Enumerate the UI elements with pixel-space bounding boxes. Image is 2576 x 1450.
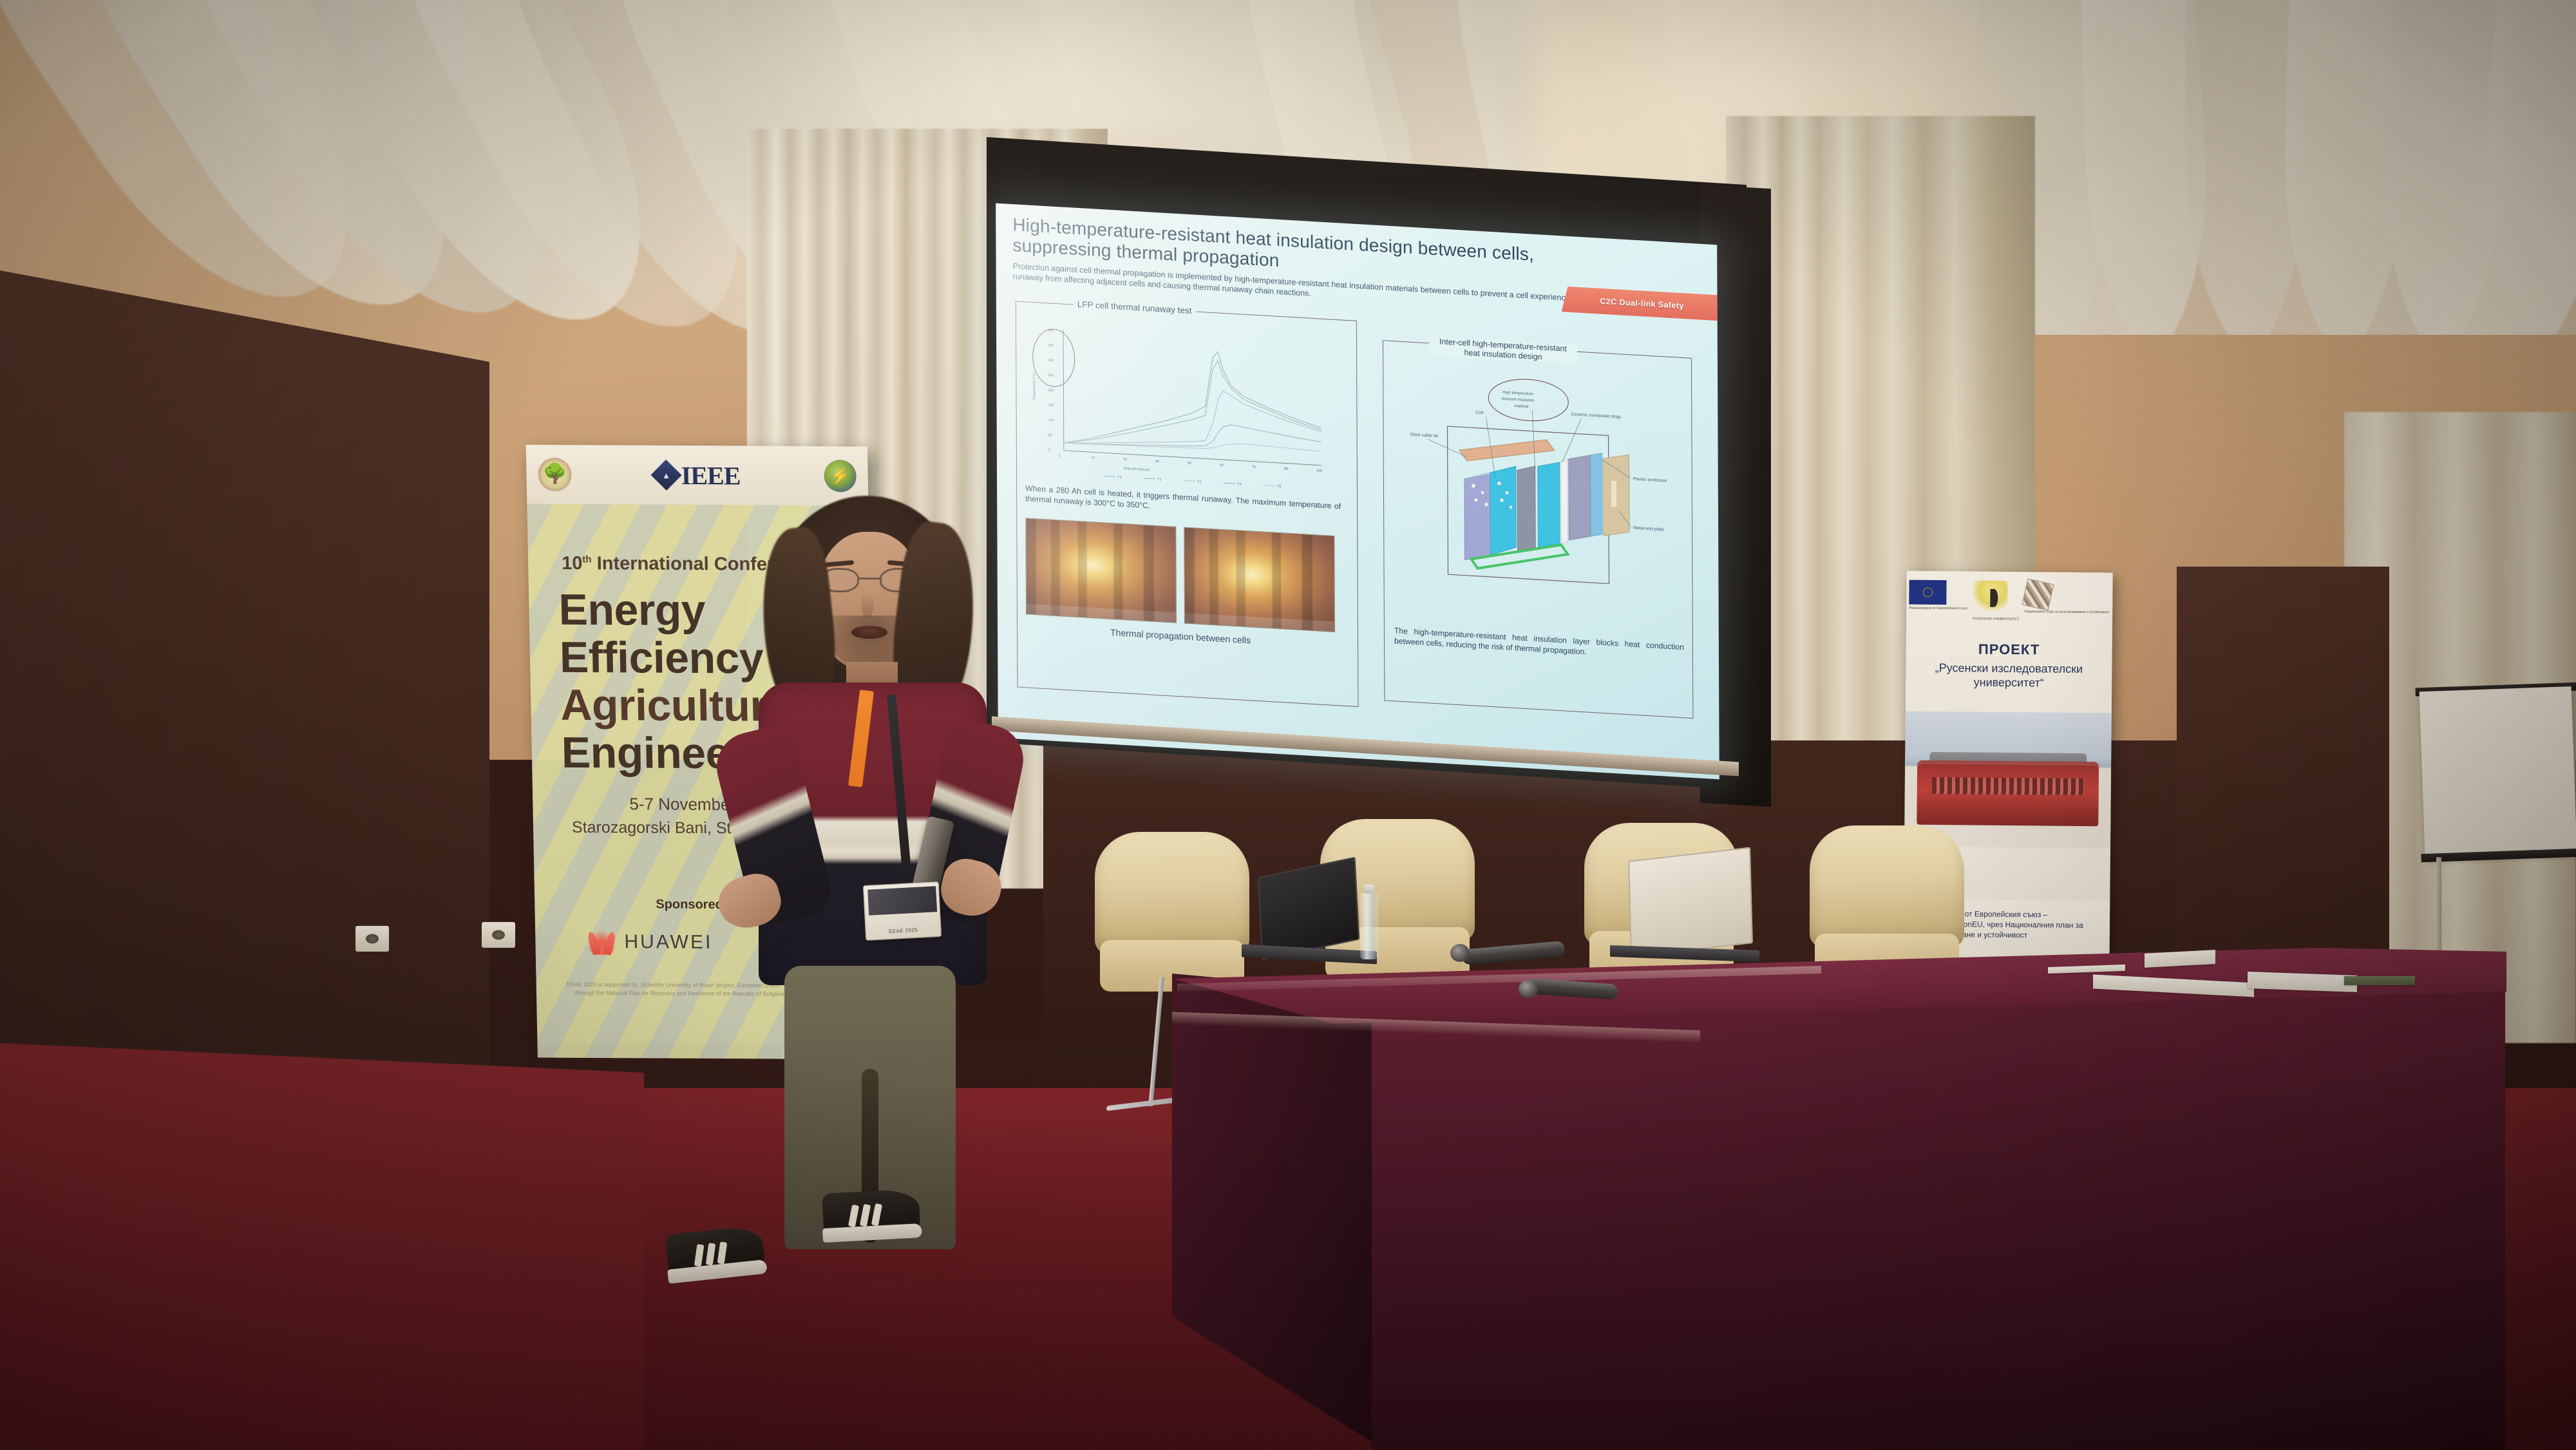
chart-xtick: 50	[1188, 462, 1191, 466]
diagram-label-insulation-2: resistant insulation	[1501, 397, 1535, 403]
shoe-stripe	[717, 1241, 728, 1264]
project-name: „Русенски изследователски университет“	[1912, 661, 2105, 692]
projection-screen: High-temperature-resistant heat insulati…	[996, 203, 1719, 780]
thermal-runaway-chart: 050100150200250300350400 013253850637588…	[1026, 322, 1329, 494]
laptop-base	[1242, 944, 1377, 964]
microphone-2-head	[1519, 980, 1538, 998]
nrp-logo-caption: Национален план за възстановяване и усто…	[2025, 610, 2110, 614]
conference-photo: High-temperature-resistant heat insulati…	[0, 0, 2576, 1450]
building-facade	[1917, 760, 2098, 826]
diagram-label-insulation-3: material	[1514, 404, 1528, 409]
chart-ylabel: Temperature (°C)	[1032, 373, 1036, 400]
slide-ribbon-badge: C2C Dual-link Safety	[1562, 286, 1719, 321]
chair	[1810, 825, 1964, 974]
water-bottle	[1360, 892, 1378, 959]
shoe-stripe	[706, 1243, 716, 1265]
presentation-slide: High-temperature-resistant heat insulati…	[996, 203, 1719, 780]
chart-xtick: 63	[1220, 464, 1224, 467]
ceiling-light-glow-secondary	[676, 0, 1385, 142]
diagram-label-cell: Cell	[1475, 411, 1484, 416]
ieee-label: IEEE	[681, 460, 741, 490]
ieee-logo: ▲ IEEE	[655, 460, 741, 491]
eu-logo-caption: Финансирано от Европейския съюз	[1909, 607, 1967, 611]
diagram-label-enclosure: Plastic enclosure	[1633, 477, 1667, 484]
diagram-label-insulation-1: High temperature	[1502, 390, 1533, 397]
chart-xtick: 88	[1284, 467, 1288, 471]
laptop-screen	[1258, 857, 1360, 961]
banner-ordinal: 10	[562, 553, 583, 574]
chart-series-T4	[1064, 415, 1321, 458]
university-crest-icon	[1973, 581, 2007, 616]
badge-photo-area	[867, 886, 937, 915]
shoe-stripe	[860, 1204, 871, 1227]
speaker: EEAE 2025	[702, 489, 1037, 1346]
fire-photo-1	[1025, 518, 1177, 623]
shoe-stripe	[694, 1244, 705, 1266]
project-label: ПРОЕКТ	[1906, 641, 2112, 659]
chart-legend-T3: T3	[1197, 480, 1201, 484]
huawei-logo: HUAWEI	[587, 929, 713, 956]
chair-backrest	[1810, 825, 1964, 948]
chart-xtick: 38	[1155, 460, 1159, 464]
laptop-right	[1610, 854, 1758, 963]
glasses-bridge	[859, 578, 880, 579]
banner-title-line-1: Energy	[558, 588, 706, 632]
laptop-left	[1242, 867, 1377, 963]
desk-object	[2344, 976, 2415, 985]
chart-ytick: 100	[1048, 419, 1054, 423]
mouth	[851, 626, 887, 639]
badge-text: EEAE 2025	[866, 926, 940, 936]
power-outlet	[482, 922, 515, 948]
power-outlet	[355, 926, 389, 952]
battery-insulation-diagram: Steel cable tie Cell High temperature re…	[1408, 362, 1667, 628]
chart-xtick: 25	[1123, 458, 1127, 462]
shoe-stripe	[871, 1203, 882, 1226]
chart-legend-T5: T5	[1277, 485, 1281, 489]
eu-logo-block: Финансирано от Европейския съюз	[1909, 580, 1967, 611]
shoe-right	[822, 1189, 921, 1241]
chart-series-T2	[1063, 352, 1321, 458]
shoe-stripe	[848, 1205, 859, 1227]
ieee-diamond-icon: ▲	[651, 460, 682, 491]
diagram-label-cable-tie: Steel cable tie	[1410, 433, 1439, 439]
eu-flag-icon	[1909, 580, 1947, 605]
huawei-flower-icon	[587, 929, 617, 955]
chart-legend-T4: T4	[1237, 482, 1241, 486]
chart-ytick: 0	[1048, 448, 1050, 452]
chart-xtick: 100	[1316, 469, 1322, 473]
energy-leaf-icon: ⚡	[824, 460, 857, 492]
flipchart-sheet	[2420, 686, 2576, 859]
chair	[1095, 832, 1249, 980]
ruse-university-logo-block: РУСЕНСКИ УНИВЕРСИТЕТ	[1973, 581, 2020, 622]
microphone-1-head	[1450, 944, 1470, 962]
conference-badge: EEAE 2025	[863, 881, 942, 941]
tree-icon: 🌳	[538, 458, 572, 491]
nrp-mosaic-icon	[2022, 578, 2054, 610]
project-banner-logos: Финансирано от Европейския съюз РУСЕНСКИ…	[1906, 580, 2113, 637]
chart-xtick: 75	[1252, 466, 1256, 469]
huawei-label: HUAWEI	[624, 931, 713, 954]
chart-legend-T2: T2	[1157, 478, 1161, 482]
fire-photo-2	[1184, 527, 1335, 632]
thermal-propagation-photos	[1025, 518, 1335, 632]
flipchart	[2419, 680, 2576, 898]
chart-ytick: 200	[1048, 388, 1054, 393]
bottle-cap	[1364, 885, 1374, 894]
shoe-left	[665, 1225, 766, 1282]
laptop-screen	[1628, 847, 1753, 957]
laptop-base	[1610, 945, 1759, 962]
chart-series-T1	[1063, 343, 1321, 458]
chart-xtick: 0	[1059, 454, 1061, 458]
university-logo-caption: РУСЕНСКИ УНИВЕРСИТЕТ	[1973, 617, 2019, 622]
diagram-label-strap: Ceramic composite strap	[1571, 412, 1620, 419]
chart-xlabel: Time (hh:mm:ss)	[1123, 467, 1150, 472]
chart-ytick: 150	[1048, 404, 1054, 408]
chart-ytick: 50	[1048, 433, 1052, 437]
nose	[862, 591, 873, 617]
nrp-logo-block: Национален план за възстановяване и усто…	[2025, 581, 2110, 614]
chart-legend-T1: T1	[1117, 475, 1121, 479]
chair-backrest	[1095, 832, 1249, 954]
banner-ordinal-suffix: th	[582, 554, 592, 565]
chart-xtick: 13	[1091, 456, 1095, 460]
diagram-label-end-plate: Metal end plate	[1633, 526, 1664, 532]
